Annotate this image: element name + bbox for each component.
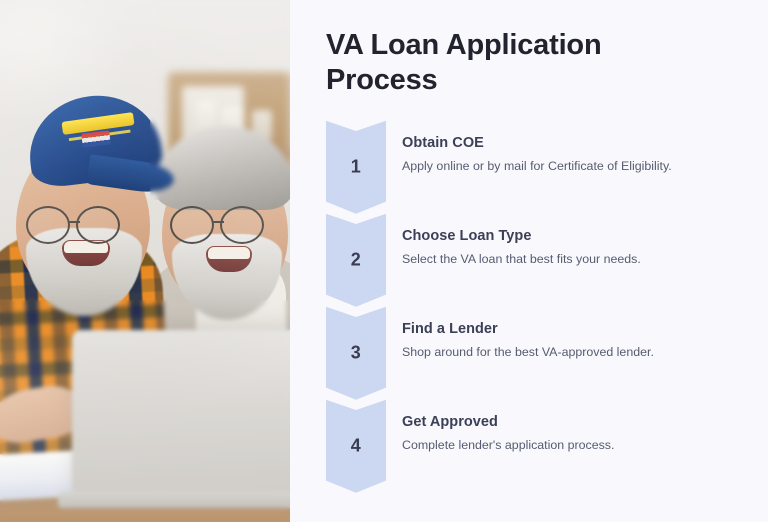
eyeglasses-icon: [26, 206, 70, 244]
step-number: 2: [326, 250, 386, 271]
eyeglasses-icon: [170, 206, 214, 244]
step-item: 2 Choose Loan Type Select the VA loan th…: [326, 214, 734, 307]
step-chevron-badge: 2: [326, 214, 386, 307]
step-title: Obtain COE: [402, 135, 734, 151]
step-text: Choose Loan Type Select the VA loan that…: [402, 214, 734, 268]
step-number: 1: [326, 157, 386, 178]
step-item: 1 Obtain COE Apply online or by mail for…: [326, 121, 734, 214]
step-description: Shop around for the best VA-approved len…: [402, 344, 734, 361]
step-chevron-badge: 1: [326, 121, 386, 214]
step-chevron-badge: 4: [326, 400, 386, 493]
eyeglasses-bridge-icon: [68, 221, 80, 223]
step-text: Get Approved Complete lender's applicati…: [402, 400, 734, 454]
page-title: VA Loan Application Process: [326, 28, 656, 99]
photo-person-right-teeth: [208, 247, 250, 259]
step-item: 4 Get Approved Complete lender's applica…: [326, 400, 734, 493]
step-number: 4: [326, 436, 386, 457]
eyeglasses-bridge-icon: [212, 221, 224, 223]
step-text: Find a Lender Shop around for the best V…: [402, 307, 734, 361]
step-item: 3 Find a Lender Shop around for the best…: [326, 307, 734, 400]
eyeglasses-icon: [76, 206, 120, 244]
step-text: Obtain COE Apply online or by mail for C…: [402, 121, 734, 175]
step-number: 3: [326, 343, 386, 364]
hero-photo: [0, 0, 290, 522]
step-description: Complete lender's application process.: [402, 437, 734, 454]
eyeglasses-icon: [220, 206, 264, 244]
step-title: Get Approved: [402, 414, 734, 430]
step-description: Apply online or by mail for Certificate …: [402, 158, 734, 175]
laptop-base: [58, 492, 290, 508]
steps-list: 1 Obtain COE Apply online or by mail for…: [326, 121, 734, 493]
photo-stage: [0, 0, 290, 522]
va-loan-infographic: VA Loan Application Process 1 Obtain COE…: [0, 0, 768, 522]
content-panel: VA Loan Application Process 1 Obtain COE…: [290, 0, 768, 522]
step-description: Select the VA loan that best fits your n…: [402, 251, 734, 268]
step-chevron-badge: 3: [326, 307, 386, 400]
laptop-icon: [72, 330, 290, 502]
step-title: Find a Lender: [402, 321, 734, 337]
step-title: Choose Loan Type: [402, 228, 734, 244]
